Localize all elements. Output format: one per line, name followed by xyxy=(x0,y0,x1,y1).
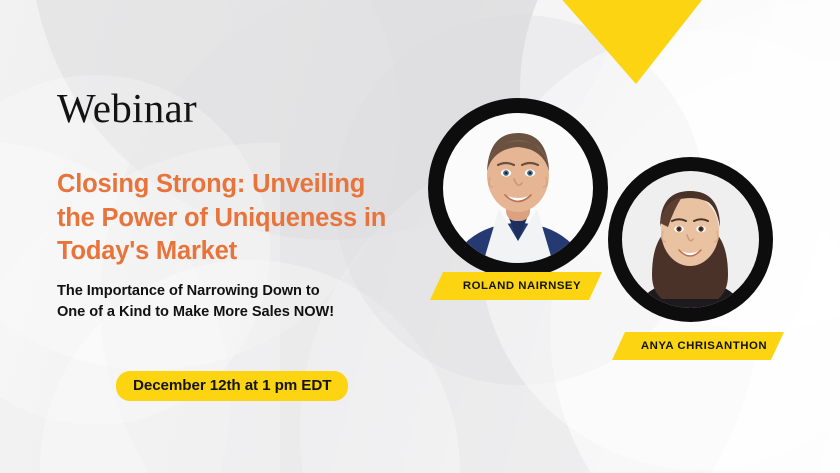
page-subtitle-line-1: The Importance of Narrowing Down to xyxy=(57,281,447,302)
speaker-photo-anya-chrisanthon xyxy=(608,157,773,322)
page-title: Closing Strong: Unveiling the Power of U… xyxy=(57,168,457,269)
page-subtitle: The Importance of Narrowing Down to One … xyxy=(57,281,447,322)
webinar-promo-graphic: Webinar Closing Strong: Unveiling the Po… xyxy=(0,0,840,473)
page-eyebrow: Webinar xyxy=(57,88,197,129)
page-title-line-2: the Power of Uniqueness in xyxy=(57,202,457,236)
event-date-badge: December 12th at 1 pm EDT xyxy=(116,371,348,401)
speaker-photo-inner xyxy=(622,171,759,308)
page-subtitle-line-2: One of a Kind to Make More Sales NOW! xyxy=(57,302,447,323)
page-title-line-3: Today's Market xyxy=(57,235,457,269)
speaker-photo-inner xyxy=(443,113,593,263)
speaker-name-banner-1: ROLAND NAIRNSEY xyxy=(430,272,608,300)
portrait-illustration-1 xyxy=(443,113,593,263)
portrait-illustration-2 xyxy=(622,171,759,308)
speaker-photo-roland-nairnsey xyxy=(428,98,608,278)
speaker-name-banner-2: ANYA CHRISANTHON xyxy=(612,332,790,360)
page-title-line-1: Closing Strong: Unveiling xyxy=(57,168,457,202)
